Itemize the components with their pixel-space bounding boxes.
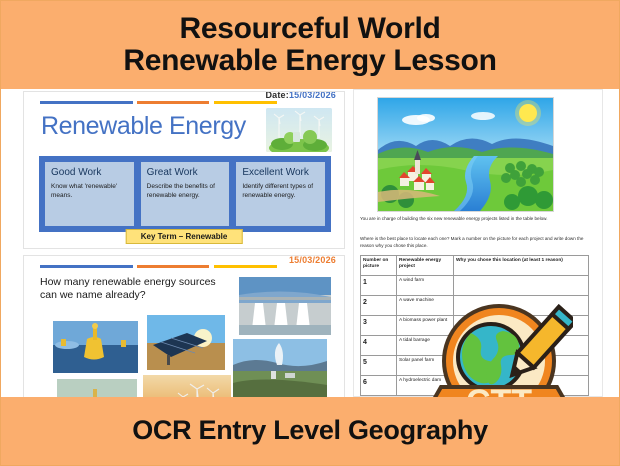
column-header-project: Renewable energy project	[397, 256, 454, 276]
objective-body: Describe the benefits of renewable energ…	[147, 183, 224, 201]
cell-number: 1	[361, 276, 397, 296]
key-term-badge: Key Term – Renewable	[126, 229, 243, 244]
slides-column: Date:15/03/2026 Renewable Energy	[23, 89, 345, 397]
objective-heading: Great Work	[147, 167, 224, 178]
cell-number: 6	[361, 376, 397, 396]
objective-card-good: Good Work Know what 'renewable' means.	[45, 162, 134, 226]
worksheet-paragraph-1: You are in charge of building the six ne…	[360, 216, 594, 223]
title-banner: Resourceful World Renewable Energy Lesso…	[1, 1, 619, 89]
objective-card-great: Great Work Describe the benefits of rene…	[141, 162, 230, 226]
objectives-strip: Good Work Know what 'renewable' means. G…	[39, 156, 331, 232]
lesson-title-line2: Renewable Energy Lesson	[123, 45, 496, 77]
subject-banner: OCR Entry Level Geography	[1, 397, 619, 465]
photo-geothermal-plant	[232, 338, 328, 398]
slide1-date-label: Date:	[265, 91, 289, 100]
cell-number: 5	[361, 356, 397, 376]
cell-project: A wind farm	[397, 276, 454, 296]
cell-reason[interactable]	[454, 276, 589, 296]
slide1-title: Renewable Energy	[41, 112, 246, 141]
table-header-row: Number on picture Renewable energy proje…	[361, 256, 589, 276]
objective-heading: Good Work	[51, 167, 128, 178]
worksheet-paragraph-2: Where is the best place to locate each o…	[360, 236, 594, 250]
lesson-title-line1: Resourceful World	[179, 13, 440, 45]
objective-body: Know what 'renewable' means.	[51, 183, 128, 201]
slide1-date: Date:15/03/2026	[265, 91, 336, 100]
column-header-number: Number on picture	[361, 256, 397, 276]
column-header-reason: Why you chose this location (at least 1 …	[454, 256, 589, 276]
table-row[interactable]: 1 A wind farm	[361, 276, 589, 296]
slide1-date-value: 15/03/2026	[289, 91, 336, 100]
slide-accent-bar	[40, 101, 272, 104]
photo-solar-panels	[146, 314, 226, 371]
cell-number: 3	[361, 316, 397, 336]
slide2-date: 15/03/2026	[289, 255, 336, 265]
cell-number: 4	[361, 336, 397, 356]
slide-objectives[interactable]: Date:15/03/2026 Renewable Energy	[23, 91, 345, 249]
cell-number: 2	[361, 296, 397, 316]
slide2-question: How many renewable energy sources can we…	[40, 276, 225, 303]
objective-body: Identify different types of renewable en…	[242, 183, 319, 201]
photo-wave-machine	[52, 320, 139, 374]
objective-heading: Excellent Work	[242, 167, 319, 178]
river-valley-illustration	[377, 97, 554, 212]
subject-label: OCR Entry Level Geography	[132, 416, 488, 445]
renewable-landscape-thumbnail	[266, 108, 332, 152]
objective-card-excellent: Excellent Work Identify different types …	[236, 162, 325, 226]
photo-hydroelectric-dam	[238, 276, 332, 336]
slide-brainstorm[interactable]: 15/03/2026 How many renewable energy sou…	[23, 255, 345, 407]
slide-accent-bar	[40, 265, 272, 268]
lesson-preview-page: Resourceful World Renewable Energy Lesso…	[0, 0, 620, 466]
